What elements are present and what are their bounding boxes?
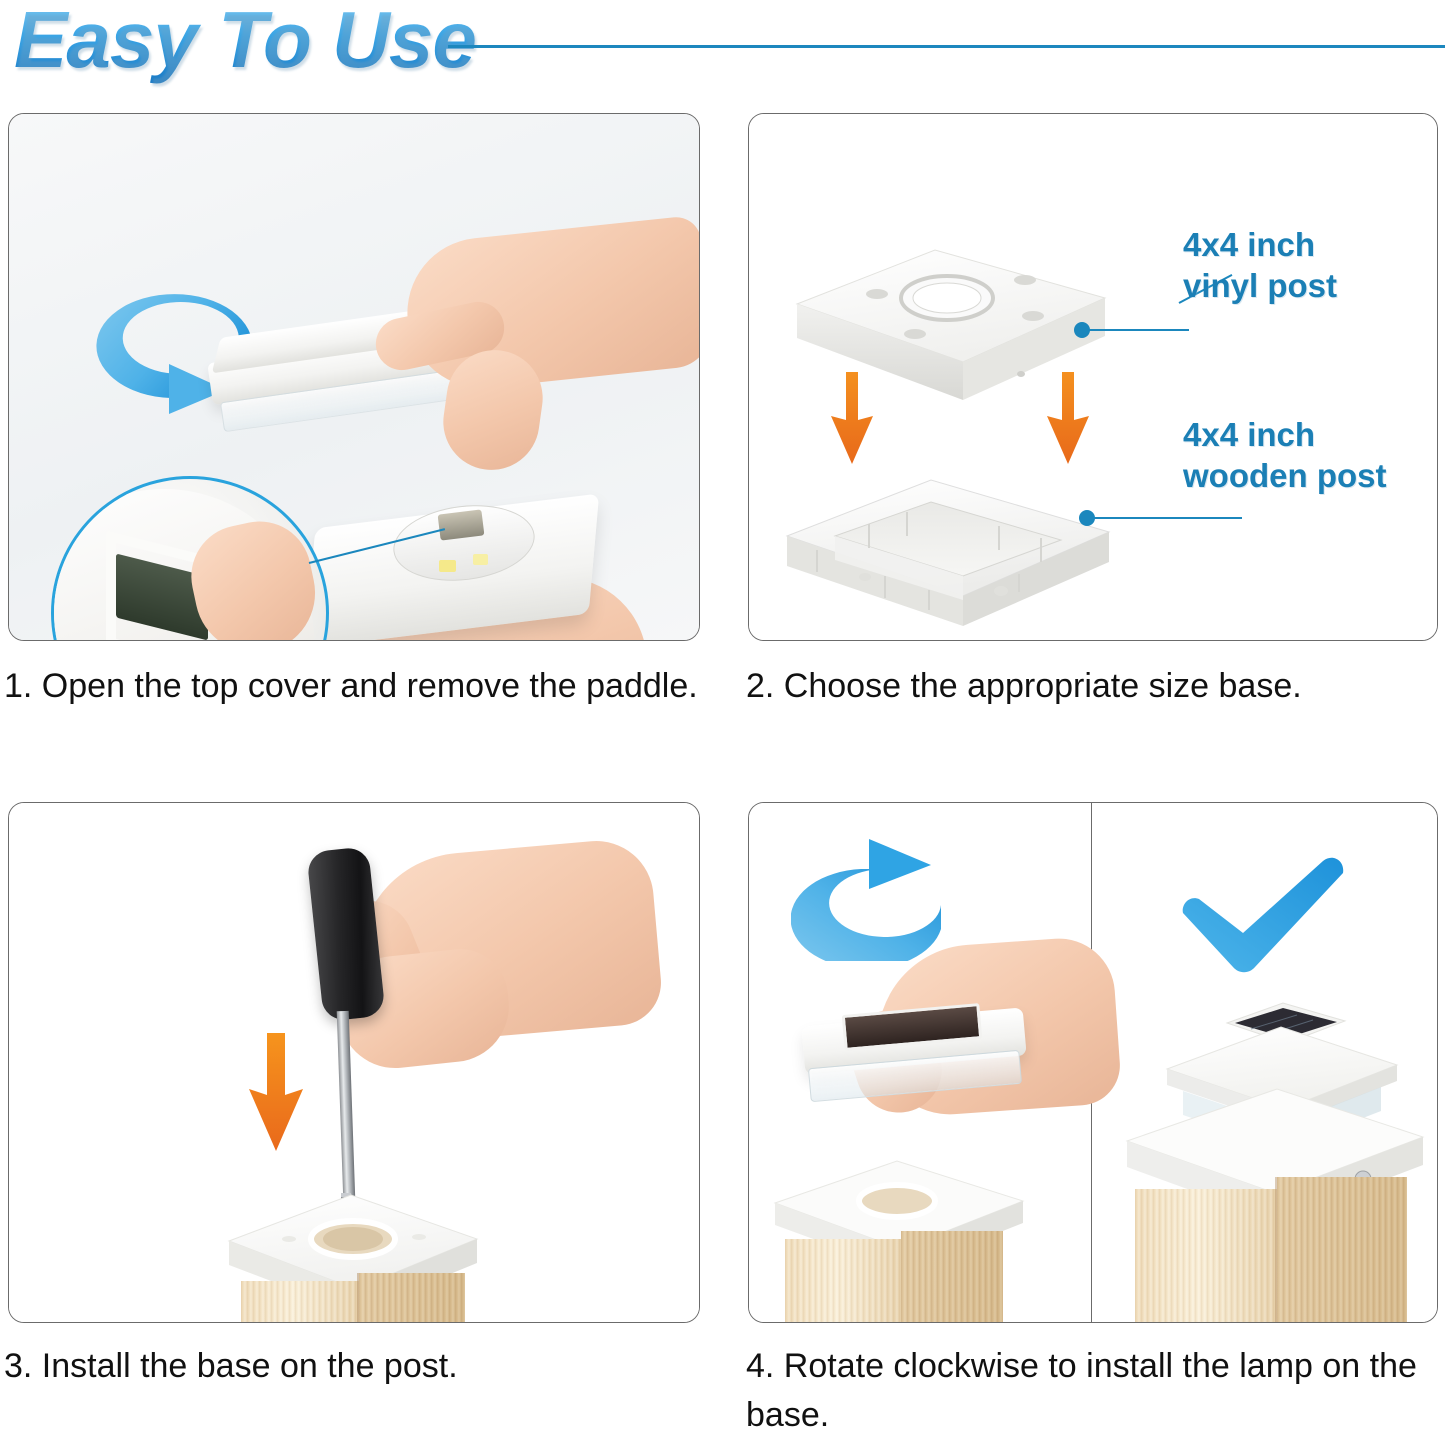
orange-down-arrow-icon bbox=[829, 372, 875, 464]
wooden-post-right-face bbox=[901, 1231, 1003, 1323]
wooden-post-right-face bbox=[1277, 1177, 1407, 1323]
step-1-caption: 1. Open the top cover and remove the pad… bbox=[4, 662, 704, 711]
step-4-caption: 4. Rotate clockwise to install the lamp … bbox=[746, 1342, 1445, 1441]
wooden-post-right-face bbox=[359, 1273, 465, 1323]
step-4-image-panel bbox=[748, 802, 1438, 1323]
wooden-post-callout-line bbox=[1092, 517, 1242, 519]
orange-down-arrow-icon bbox=[247, 1033, 305, 1151]
wooden-post bbox=[1135, 1189, 1277, 1323]
step-2-image-panel: 4x4 inch vinyl post bbox=[748, 113, 1438, 641]
step-3-image-panel bbox=[8, 802, 700, 1323]
wooden-post bbox=[785, 1239, 901, 1323]
vinyl-post-callout-line bbox=[1087, 329, 1189, 331]
led-chip bbox=[439, 560, 456, 572]
header: Easy To Use bbox=[0, 0, 1445, 96]
step-3-caption: 3. Install the base on the post. bbox=[4, 1342, 704, 1391]
battery-contact bbox=[438, 509, 485, 540]
step-2-caption: 2. Choose the appropriate size base. bbox=[746, 662, 1445, 711]
wooden-post-callout-label: 4x4 inch wooden post bbox=[1183, 414, 1386, 497]
led-chip-2 bbox=[473, 554, 488, 565]
vinyl-post-callout-label: 4x4 inch vinyl post bbox=[1183, 224, 1337, 307]
wooden-post-edge bbox=[1275, 1177, 1277, 1323]
wooden-post-adapter bbox=[773, 464, 1123, 634]
wooden-post-edge bbox=[357, 1273, 359, 1323]
orange-down-arrow-icon-2 bbox=[1045, 372, 1091, 464]
page-title: Easy To Use bbox=[14, 0, 476, 86]
step-1-image-panel bbox=[8, 113, 700, 641]
title-divider-rule bbox=[448, 45, 1445, 48]
check-icon bbox=[1177, 855, 1357, 983]
wooden-post bbox=[241, 1281, 359, 1323]
